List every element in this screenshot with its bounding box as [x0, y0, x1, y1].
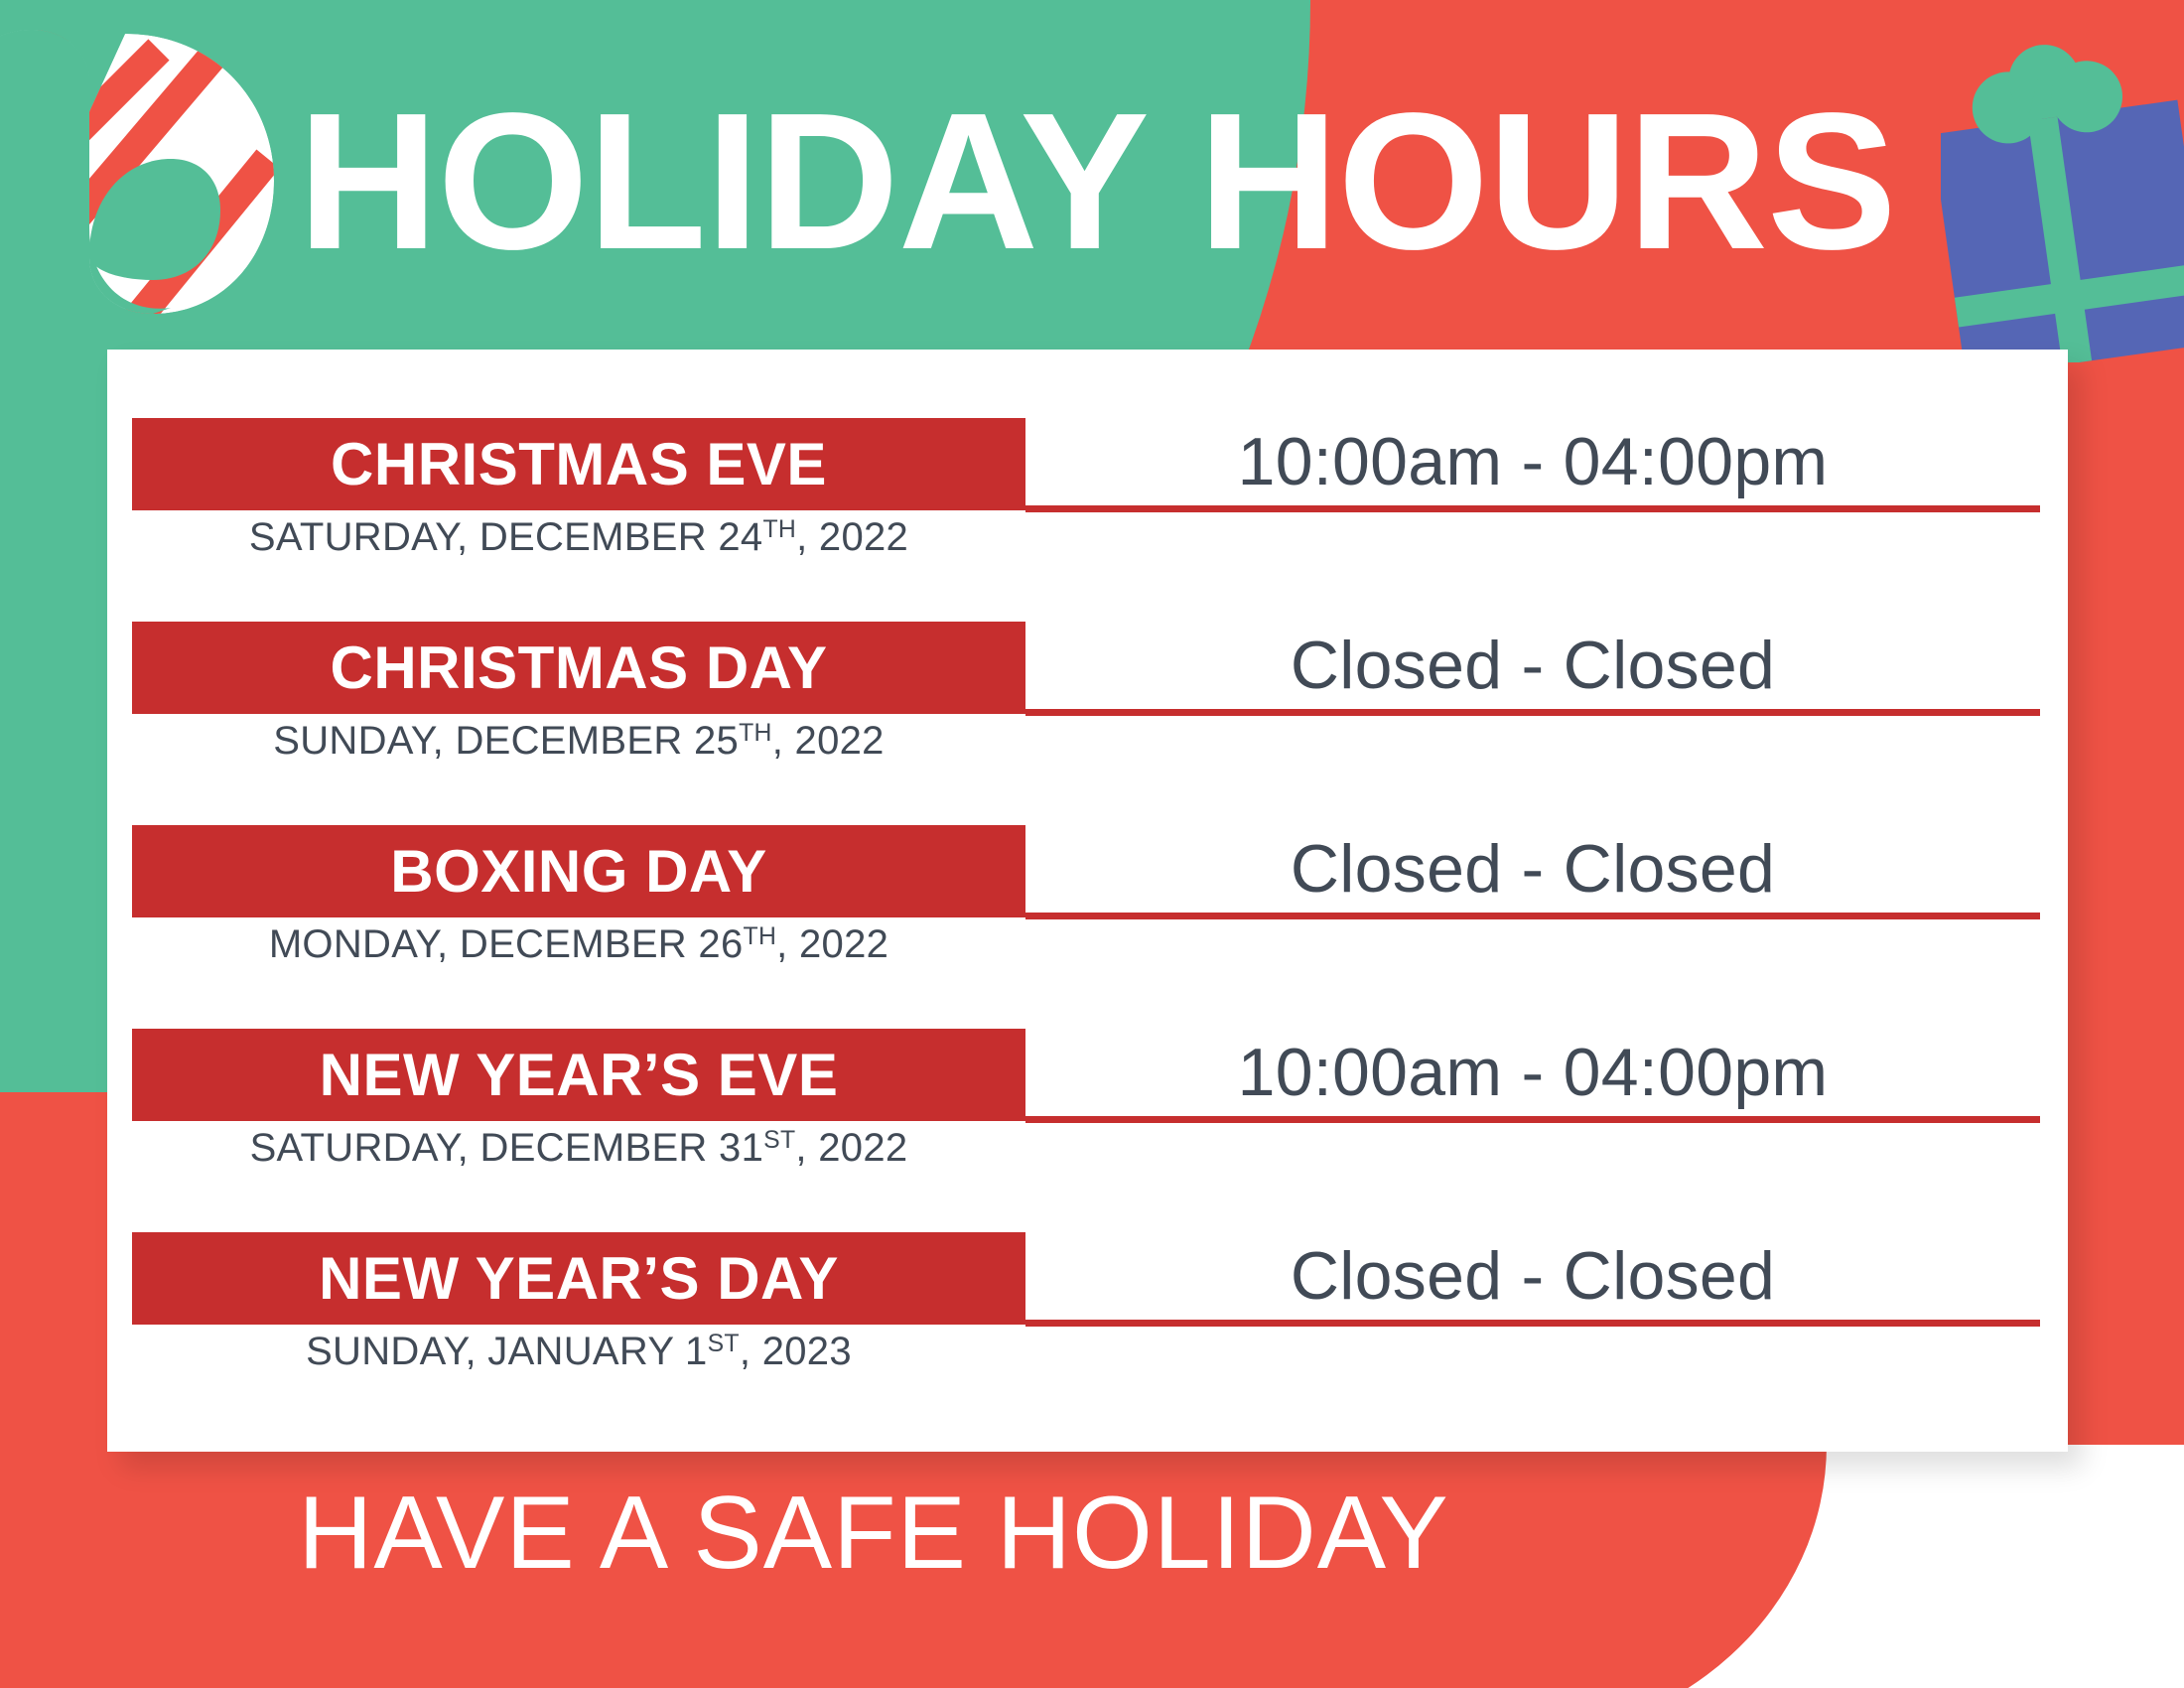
holiday-name: BOXING DAY — [390, 842, 767, 902]
hours-underline — [1025, 913, 2040, 919]
hours-underline — [1025, 505, 2040, 512]
holiday-banner: NEW YEAR’S DAY — [132, 1232, 1025, 1325]
date-suffix: , 2022 — [795, 1126, 907, 1170]
hours-cell: Closed - Closed — [1025, 1232, 2040, 1327]
date-ordinal: TH — [762, 516, 796, 543]
date-prefix: SATURDAY, DECEMBER 31 — [250, 1126, 764, 1170]
holiday-date: MONDAY, DECEMBER 26TH, 2022 — [132, 924, 1025, 964]
date-prefix: SATURDAY, DECEMBER 24 — [249, 515, 763, 559]
hours-value: 10:00am - 04:00pm — [1025, 418, 2040, 505]
date-suffix: , 2022 — [772, 719, 885, 763]
table-row: NEW YEAR’S EVE SATURDAY, DECEMBER 31ST, … — [107, 1029, 2068, 1232]
table-row: BOXING DAY MONDAY, DECEMBER 26TH, 2022 C… — [107, 825, 2068, 1029]
holiday-name: CHRISTMAS DAY — [330, 638, 827, 698]
holiday-banner: CHRISTMAS EVE — [132, 418, 1025, 510]
holiday-date: SATURDAY, DECEMBER 24TH, 2022 — [132, 517, 1025, 557]
date-suffix: , 2022 — [776, 922, 888, 966]
date-prefix: MONDAY, DECEMBER 26 — [269, 922, 744, 966]
holiday-date: SUNDAY, JANUARY 1ST, 2023 — [132, 1332, 1025, 1371]
date-ordinal: TH — [739, 720, 772, 747]
holiday-date: SUNDAY, DECEMBER 25TH, 2022 — [132, 721, 1025, 761]
page-title: HOLIDAY HOURS — [298, 84, 1985, 279]
hours-cell: 10:00am - 04:00pm — [1025, 418, 2040, 512]
holiday-hours-poster: HOLIDAY HOURS CHRISTMAS EVE SATURDAY, DE… — [0, 0, 2184, 1688]
hours-value: 10:00am - 04:00pm — [1025, 1029, 2040, 1116]
hours-value: Closed - Closed — [1025, 622, 2040, 709]
hours-value: Closed - Closed — [1025, 825, 2040, 913]
holiday-banner: BOXING DAY — [132, 825, 1025, 917]
date-suffix: , 2022 — [796, 515, 908, 559]
table-row: CHRISTMAS DAY SUNDAY, DECEMBER 25TH, 202… — [107, 622, 2068, 825]
hours-underline — [1025, 1116, 2040, 1123]
holiday-name: NEW YEAR’S EVE — [320, 1046, 839, 1105]
date-ordinal: ST — [708, 1331, 740, 1357]
holiday-date: SATURDAY, DECEMBER 31ST, 2022 — [132, 1128, 1025, 1168]
holiday-name: CHRISTMAS EVE — [331, 435, 827, 494]
hours-underline — [1025, 1320, 2040, 1327]
hours-underline — [1025, 709, 2040, 716]
table-row: NEW YEAR’S DAY SUNDAY, JANUARY 1ST, 2023… — [107, 1232, 2068, 1436]
date-prefix: SUNDAY, JANUARY 1 — [306, 1330, 708, 1373]
table-row: CHRISTMAS EVE SATURDAY, DECEMBER 24TH, 2… — [107, 418, 2068, 622]
hours-cell: Closed - Closed — [1025, 825, 2040, 919]
date-ordinal: TH — [744, 923, 777, 950]
date-ordinal: ST — [763, 1127, 795, 1154]
hours-card: CHRISTMAS EVE SATURDAY, DECEMBER 24TH, 2… — [107, 350, 2068, 1452]
holiday-name: NEW YEAR’S DAY — [319, 1249, 839, 1309]
holiday-banner: CHRISTMAS DAY — [132, 622, 1025, 714]
hours-value: Closed - Closed — [1025, 1232, 2040, 1320]
date-suffix: , 2023 — [740, 1330, 852, 1373]
date-prefix: SUNDAY, DECEMBER 25 — [273, 719, 739, 763]
holiday-banner: NEW YEAR’S EVE — [132, 1029, 1025, 1121]
footer-message: HAVE A SAFE HOLIDAY — [0, 1481, 1747, 1585]
hours-cell: Closed - Closed — [1025, 622, 2040, 716]
hours-cell: 10:00am - 04:00pm — [1025, 1029, 2040, 1123]
